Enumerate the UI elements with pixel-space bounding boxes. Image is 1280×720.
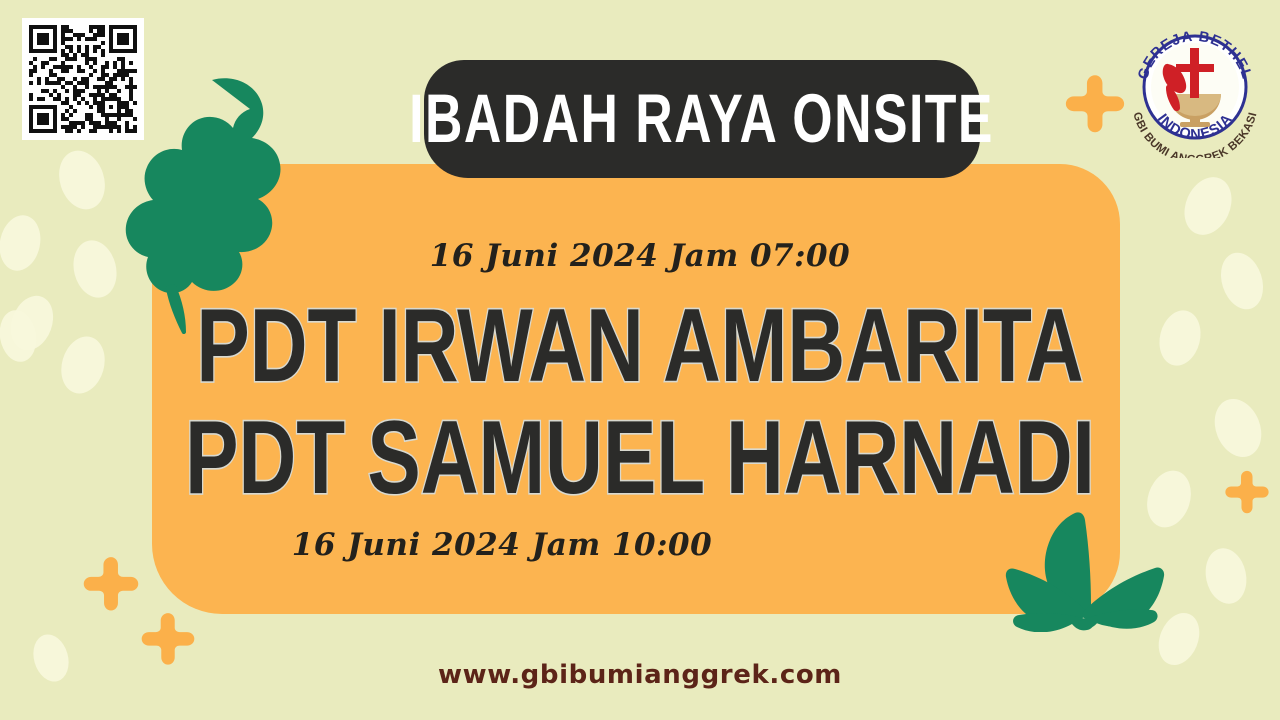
title-banner: IBADAH RAYA ONSITE — [424, 60, 980, 178]
service-time-first: 16 Juni 2024 Jam 07:00 — [0, 238, 1280, 274]
background-oval — [1176, 170, 1241, 243]
speaker-name-first: PDT IRWAN AMBARITA — [0, 286, 1280, 406]
sparkle-icon — [1064, 74, 1126, 136]
church-logo: GEREJA BETHEL INDONESIA GBI BUMI ANGGREK… — [1124, 16, 1266, 158]
service-time-second: 16 Juni 2024 Jam 10:00 — [152, 527, 852, 563]
background-oval — [52, 145, 112, 216]
qr-code[interactable] — [22, 18, 144, 140]
qr-code-image — [29, 25, 137, 133]
background-oval — [1201, 544, 1252, 607]
speaker-name-second: PDT SAMUEL HARNADI — [0, 398, 1280, 518]
title-text: IBADAH RAYA ONSITE — [410, 79, 995, 158]
website-url[interactable]: www.gbibumianggrek.com — [0, 660, 1280, 690]
flyer-canvas: GEREJA BETHEL INDONESIA GBI BUMI ANGGREK… — [0, 0, 1280, 720]
sparkle-icon — [82, 556, 140, 614]
